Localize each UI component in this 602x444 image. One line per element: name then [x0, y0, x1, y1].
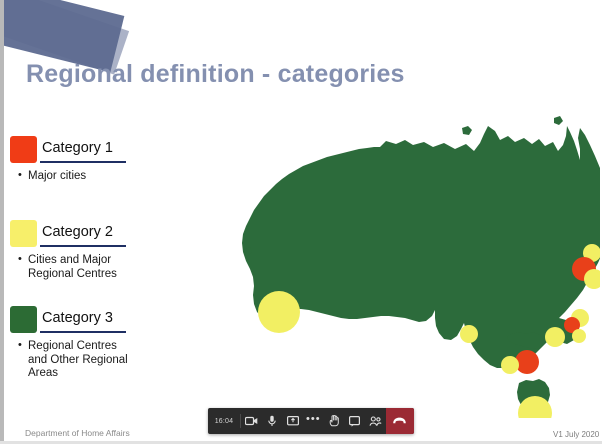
participants-button[interactable] — [365, 408, 386, 434]
raise-hand-icon — [329, 415, 339, 427]
legend-header: Category 2 — [10, 220, 138, 250]
legend-label-category-2: Category 2 — [42, 224, 113, 240]
legend-header: Category 1 — [10, 136, 86, 166]
share-screen-icon — [287, 416, 299, 426]
raise-hand-button[interactable] — [324, 408, 345, 434]
legend-description-category-3: Regional Centres and Other Regional Area… — [18, 340, 138, 381]
legend-description-line: Regional Centres and Other Regional Area… — [18, 340, 138, 381]
slide-screenshot: Regional definition - categories Categor… — [0, 0, 602, 444]
canberra-marker — [545, 327, 565, 347]
legend-description-category-2: Cities and Major Regional Centres — [18, 254, 138, 281]
more-actions-button[interactable]: ••• — [303, 408, 324, 434]
legend-description-line: Cities and Major Regional Centres — [18, 254, 138, 281]
perth-marker — [258, 291, 300, 333]
legend-swatch-category-2 — [10, 220, 37, 247]
hangup-button[interactable] — [386, 408, 414, 434]
wollongong-marker — [572, 329, 586, 343]
camera-icon — [245, 416, 258, 426]
legend-item-category-3: Category 3 Regional Centres and Other Re… — [10, 306, 138, 381]
chat-icon — [349, 416, 360, 427]
legend-description-line: Major cities — [18, 170, 86, 184]
legend-label-category-3: Category 3 — [42, 310, 113, 326]
microphone-icon — [267, 415, 277, 427]
map-landmass — [242, 116, 600, 413]
page-title: Regional definition - categories — [26, 60, 405, 89]
hangup-icon — [392, 417, 407, 425]
geelong-marker — [501, 356, 519, 374]
legend-item-category-1: Category 1 Major cities — [10, 136, 86, 184]
camera-button[interactable] — [241, 408, 262, 434]
footer-version: V1 July 2020 — [553, 430, 599, 439]
participants-icon — [369, 416, 382, 427]
share-screen-button[interactable] — [282, 408, 303, 434]
legend-swatch-category-1 — [10, 136, 37, 163]
meeting-timer: 16:04 — [208, 408, 240, 434]
legend-item-category-2: Category 2 Cities and Major Regional Cen… — [10, 220, 138, 281]
footer-organisation: Department of Home Affairs — [25, 428, 130, 438]
chat-button[interactable] — [344, 408, 365, 434]
legend-underline — [40, 161, 126, 163]
meeting-control-bar[interactable]: 16:04 ••• — [208, 408, 414, 434]
legend-underline — [40, 245, 126, 247]
microphone-button[interactable] — [262, 408, 283, 434]
melbourne-marker — [515, 350, 539, 374]
legend-swatch-category-3 — [10, 306, 37, 333]
left-edge-rail — [0, 0, 4, 444]
legend-header: Category 3 — [10, 306, 138, 336]
legend-description-category-1: Major cities — [18, 170, 86, 184]
australia-map — [224, 112, 600, 418]
legend-label-category-1: Category 1 — [42, 140, 113, 156]
legend-underline — [40, 331, 126, 333]
adelaide-marker — [460, 325, 478, 343]
